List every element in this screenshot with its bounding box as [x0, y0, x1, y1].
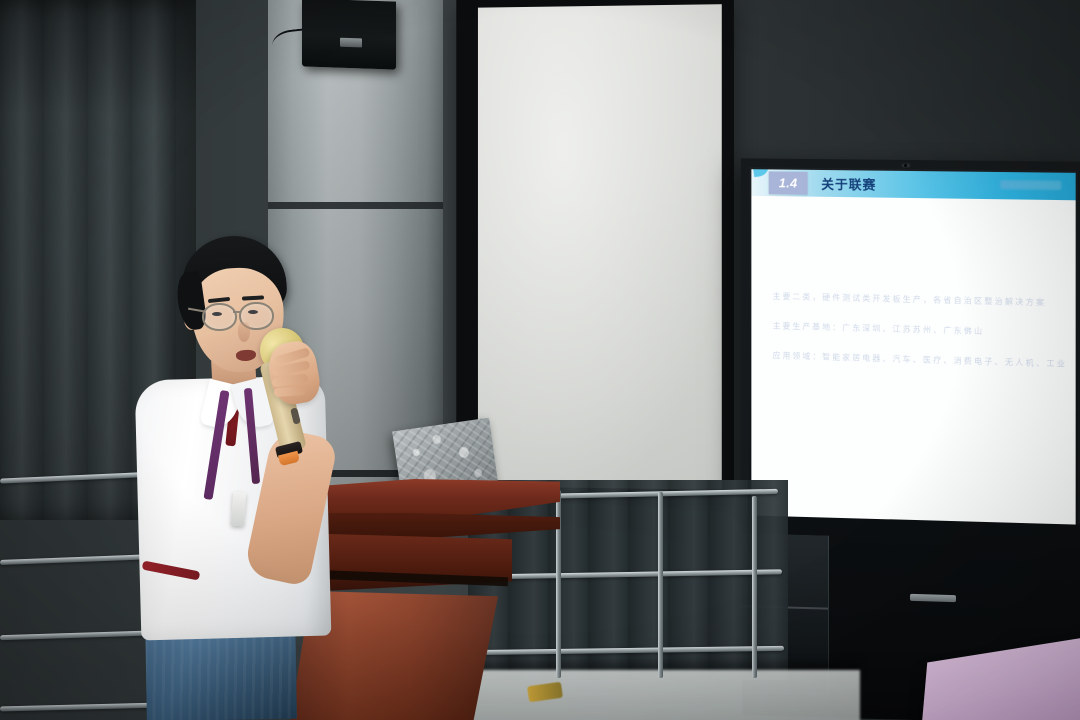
railing-post: [752, 496, 757, 678]
column-band-upper: [268, 202, 443, 209]
eyeglass-lens: [202, 303, 237, 331]
display-camera-icon: [901, 163, 911, 168]
projection-screen: [456, 0, 734, 506]
presenter-nose: [238, 322, 250, 342]
wall-speaker: [302, 0, 396, 70]
speaker-label-plate: [340, 38, 362, 48]
id-badge: [231, 492, 246, 527]
projection-screen-surface: [478, 4, 722, 490]
eyeglass-bridge: [233, 311, 241, 313]
presenter: [120, 236, 410, 720]
presentation-scene: 1.4 关于联赛 主要二类，硬件测试类开发板生产，各省自治区整治解决方案 主要生…: [0, 0, 1080, 720]
railing-post: [658, 492, 663, 678]
